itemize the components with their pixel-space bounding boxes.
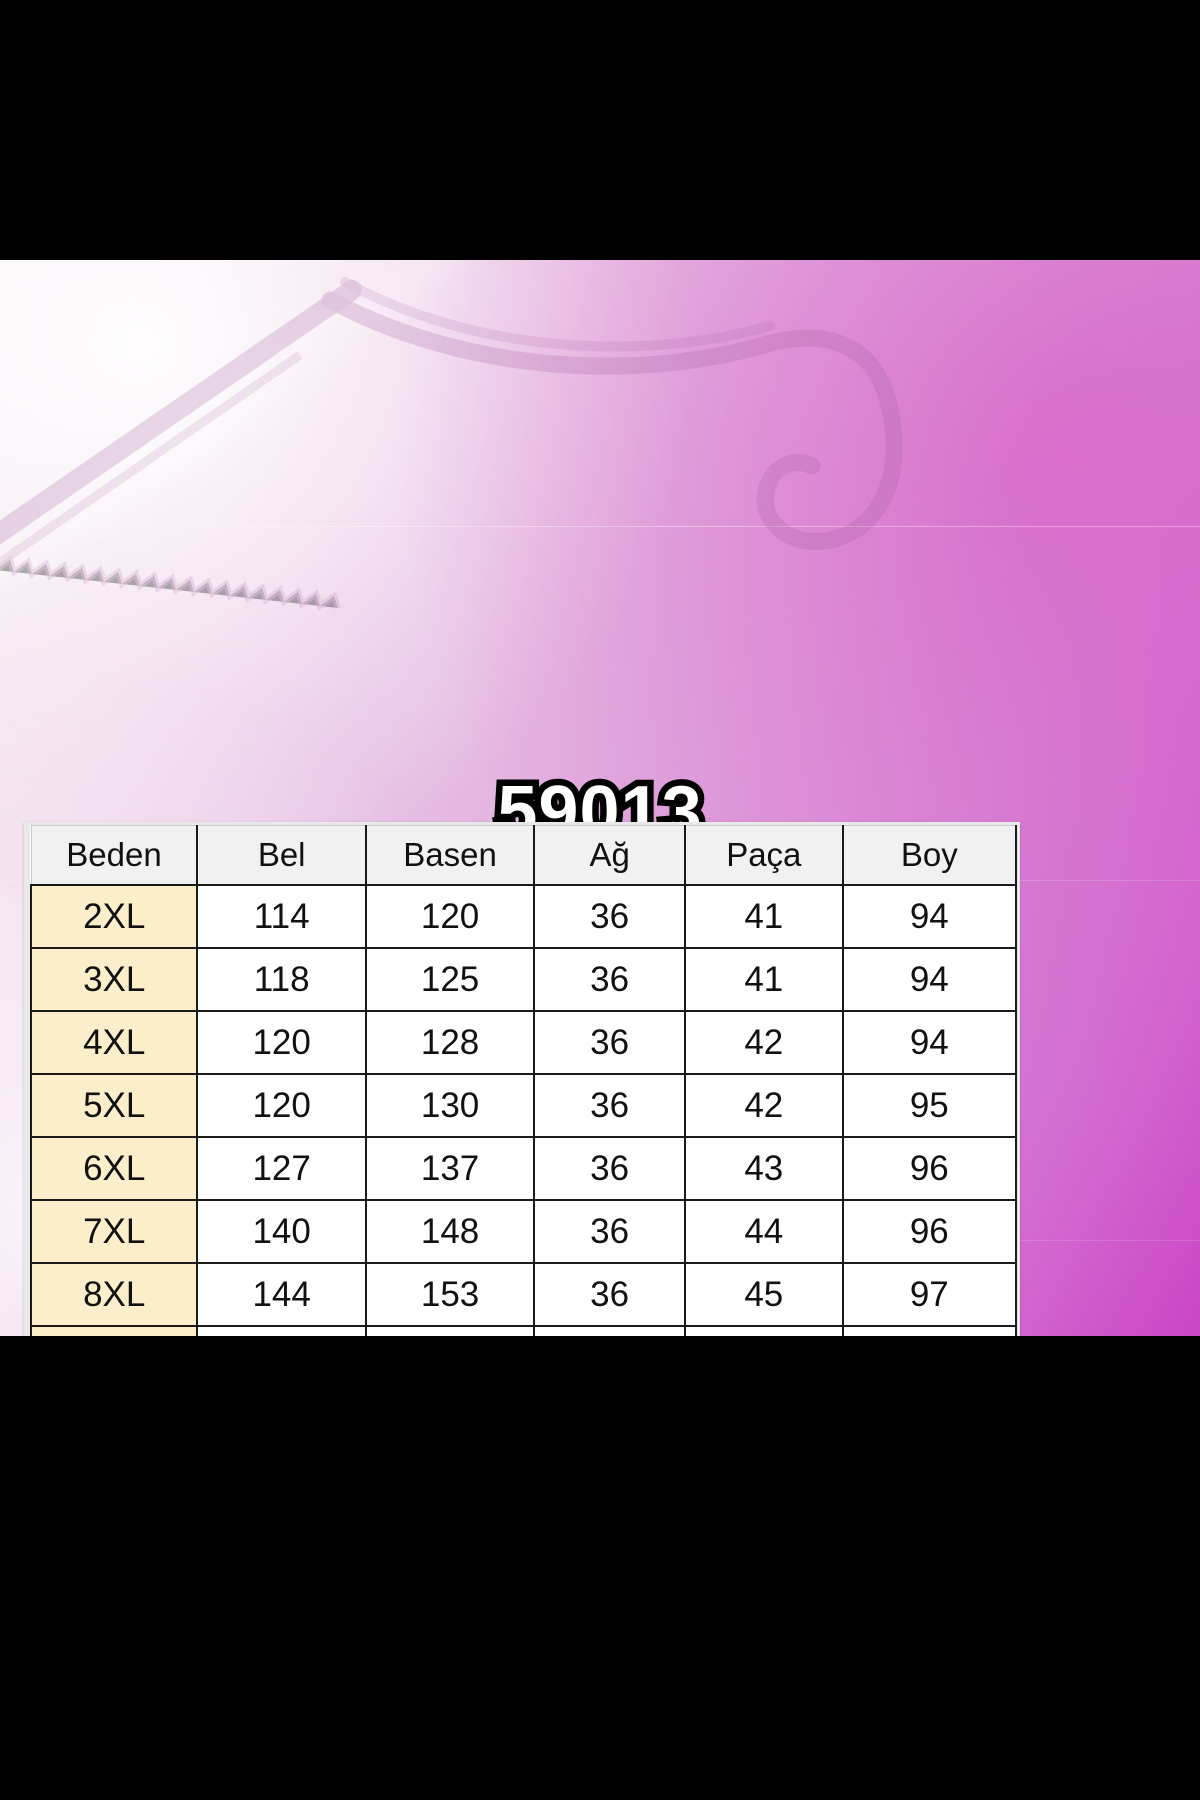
- column-header-basen: Basen: [366, 826, 534, 886]
- table-cell-measurement: 96: [843, 1137, 1016, 1200]
- table-cell-measurement: 36: [534, 885, 685, 948]
- table-cell-measurement: 127: [197, 1137, 365, 1200]
- table-cell-measurement: 96: [843, 1200, 1016, 1263]
- table-cell-measurement: 148: [197, 1326, 365, 1336]
- table-cell-measurement: 97: [843, 1263, 1016, 1326]
- light-streak-decoration: [0, 289, 441, 757]
- table-cell-measurement: 45: [685, 1263, 843, 1326]
- table-cell-size: 6XL: [31, 1137, 197, 1200]
- column-header-ag: Ağ: [534, 826, 685, 886]
- table-row: 4XL120128364294: [31, 1011, 1016, 1074]
- table-cell-measurement: 36: [534, 1326, 685, 1336]
- letterbox-top: [0, 0, 1200, 260]
- table-cell-measurement: 43: [685, 1137, 843, 1200]
- table-cell-size: 5XL: [31, 1074, 197, 1137]
- table-row: 2XL114120364194: [31, 885, 1016, 948]
- table-cell-size: 8XL: [31, 1263, 197, 1326]
- horizontal-rule-decoration: [0, 526, 1200, 527]
- table-row: 3XL118125364194: [31, 948, 1016, 1011]
- column-header-paca: Paça: [685, 826, 843, 886]
- size-chart-table: Beden Bel Basen Ağ Paça Boy 2XL114120364…: [30, 825, 1017, 1336]
- product-size-chart-image: 59013 Beden Bel Basen Ağ Paça Boy: [0, 260, 1200, 1336]
- letterbox-bottom: [0, 1336, 1200, 1800]
- table-row: 9XL148158364698: [31, 1326, 1016, 1336]
- table-row: 8XL144153364597: [31, 1263, 1016, 1326]
- table-cell-measurement: 94: [843, 885, 1016, 948]
- table-cell-size: 9XL: [31, 1326, 197, 1336]
- screenshot-stage: 59013 Beden Bel Basen Ağ Paça Boy: [0, 0, 1200, 1800]
- table-cell-measurement: 153: [366, 1263, 534, 1326]
- column-header-boy: Boy: [843, 826, 1016, 886]
- table-cell-size: 4XL: [31, 1011, 197, 1074]
- table-cell-measurement: 125: [366, 948, 534, 1011]
- table-cell-measurement: 41: [685, 885, 843, 948]
- table-cell-size: 7XL: [31, 1200, 197, 1263]
- column-header-bel: Bel: [197, 826, 365, 886]
- table-cell-measurement: 128: [366, 1011, 534, 1074]
- table-cell-measurement: 120: [197, 1011, 365, 1074]
- table-cell-measurement: 42: [685, 1011, 843, 1074]
- table-cell-measurement: 118: [197, 948, 365, 1011]
- table-cell-measurement: 98: [843, 1326, 1016, 1336]
- table-cell-measurement: 120: [197, 1074, 365, 1137]
- table-cell-measurement: 41: [685, 948, 843, 1011]
- table-cell-measurement: 137: [366, 1137, 534, 1200]
- table-row: 5XL120130364295: [31, 1074, 1016, 1137]
- table-cell-measurement: 36: [534, 1074, 685, 1137]
- table-cell-measurement: 148: [366, 1200, 534, 1263]
- table-cell-measurement: 36: [534, 1137, 685, 1200]
- size-chart-body: 2XL1141203641943XL1181253641944XL1201283…: [31, 885, 1016, 1336]
- table-cell-measurement: 140: [197, 1200, 365, 1263]
- table-cell-measurement: 114: [197, 885, 365, 948]
- table-row: 6XL127137364396: [31, 1137, 1016, 1200]
- table-cell-measurement: 144: [197, 1263, 365, 1326]
- table-cell-measurement: 36: [534, 1011, 685, 1074]
- table-cell-measurement: 158: [366, 1326, 534, 1336]
- light-streak-decoration: [0, 260, 576, 694]
- table-cell-measurement: 36: [534, 1200, 685, 1263]
- table-header-row: Beden Bel Basen Ağ Paça Boy: [31, 826, 1016, 886]
- table-cell-measurement: 94: [843, 948, 1016, 1011]
- table-cell-size: 2XL: [31, 885, 197, 948]
- table-cell-size: 3XL: [31, 948, 197, 1011]
- table-row: 7XL140148364496: [31, 1200, 1016, 1263]
- table-cell-measurement: 95: [843, 1074, 1016, 1137]
- table-cell-measurement: 46: [685, 1326, 843, 1336]
- table-cell-measurement: 94: [843, 1011, 1016, 1074]
- table-cell-measurement: 36: [534, 948, 685, 1011]
- table-cell-measurement: 120: [366, 885, 534, 948]
- table-cell-measurement: 36: [534, 1263, 685, 1326]
- size-chart-header: Beden Bel Basen Ağ Paça Boy: [31, 826, 1016, 886]
- column-header-beden: Beden: [31, 826, 197, 886]
- table-cell-measurement: 130: [366, 1074, 534, 1137]
- size-chart-container: Beden Bel Basen Ağ Paça Boy 2XL114120364…: [24, 822, 1020, 1336]
- table-cell-measurement: 44: [685, 1200, 843, 1263]
- table-cell-measurement: 42: [685, 1074, 843, 1137]
